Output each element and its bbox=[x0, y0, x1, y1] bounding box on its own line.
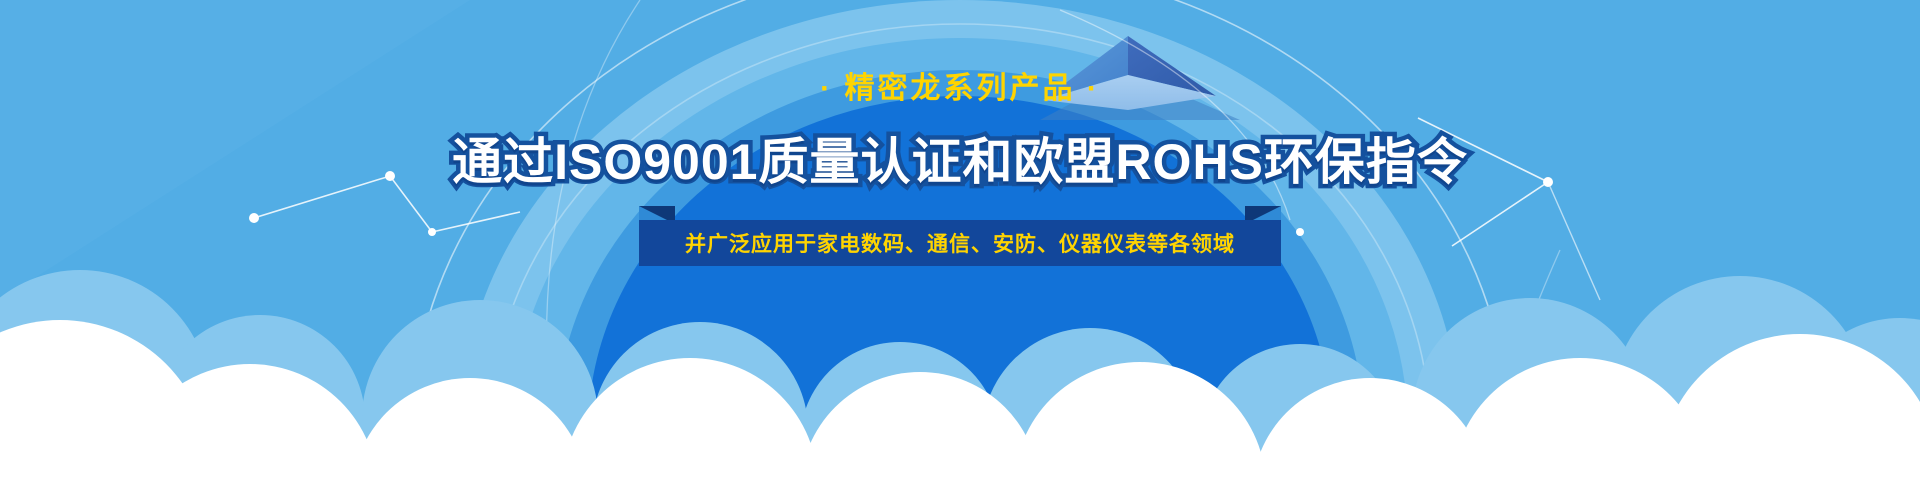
banner-background-artwork bbox=[0, 0, 1920, 480]
promo-banner: · 精密龙系列产品 · 通过ISO9001质量认证和欧盟ROHS环保指令 并广泛… bbox=[0, 0, 1920, 480]
dot-node bbox=[385, 171, 395, 181]
dot-node bbox=[249, 213, 259, 223]
dot-node bbox=[428, 228, 436, 236]
dot-node bbox=[1296, 228, 1304, 236]
dot-node bbox=[1543, 177, 1553, 187]
